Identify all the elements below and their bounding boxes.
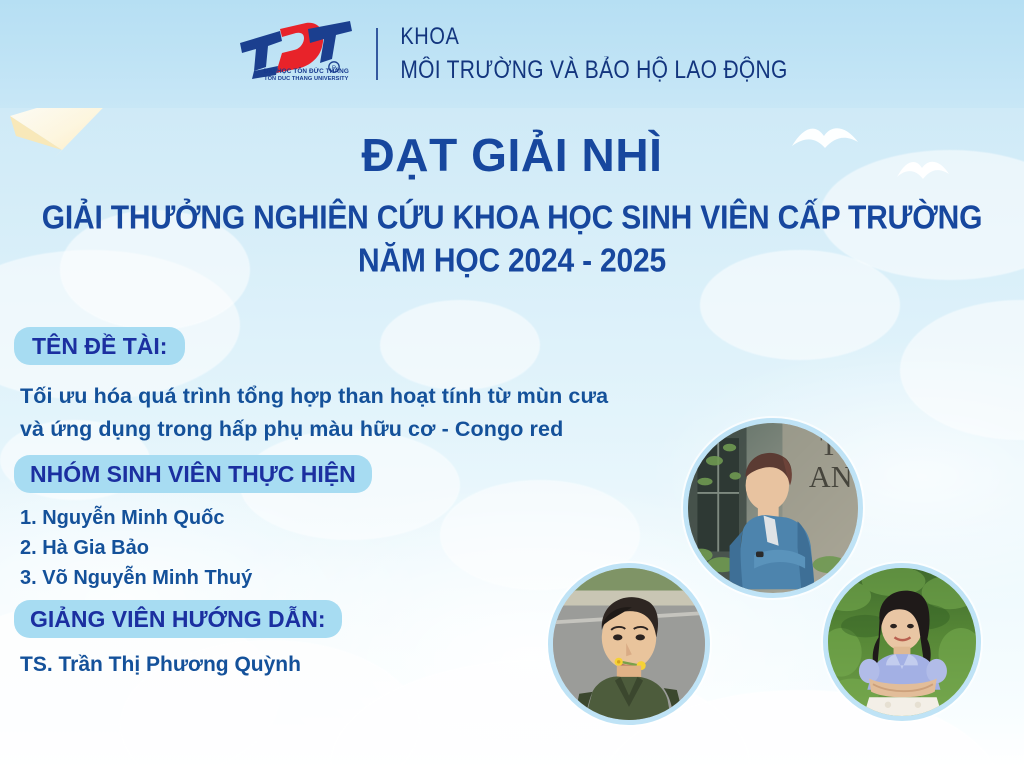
faculty-line-1: KHOA <box>400 22 787 51</box>
advisor-label-badge: GIẢNG VIÊN HƯỚNG DẪN: <box>14 600 342 638</box>
topic-text-line-1: Tối ưu hóa quá trình tổng hợp than hoạt … <box>20 384 608 409</box>
logo-subtitle-en: TON DUC THANG UNIVERSITY <box>258 76 354 82</box>
award-subtitle-2: NĂM HỌC 2024 - 2025 <box>0 243 1024 280</box>
svg-text:T: T <box>820 431 837 462</box>
poster-canvas: R ĐẠI HỌC TÔN ĐỨC THẮNG TON DUC THANG UN… <box>0 0 1024 768</box>
advisor-name: TS. Trần Thị Phương Quỳnh <box>20 653 301 677</box>
tdt-university-logo: R ĐẠI HỌC TÔN ĐỨC THẮNG TON DUC THANG UN… <box>236 21 354 87</box>
student-photo-2 <box>548 563 710 725</box>
faculty-title: KHOA MÔI TRƯỜNG VÀ BẢO HỘ LAO ĐỘNG <box>400 25 787 84</box>
faculty-line-2: MÔI TRƯỜNG VÀ BẢO HỘ LAO ĐỘNG <box>400 56 787 86</box>
header: R ĐẠI HỌC TÔN ĐỨC THẮNG TON DUC THANG UN… <box>0 0 1024 108</box>
award-subtitle-1: GIẢI THƯỞNG NGHIÊN CỨU KHOA HỌC SINH VIÊ… <box>0 200 1024 237</box>
student-group-label-badge: NHÓM SINH VIÊN THỰC HIỆN <box>14 455 372 493</box>
award-title: ĐẠT GIẢI NHÌ <box>0 128 1024 182</box>
student-photo-3 <box>823 563 981 721</box>
svg-text:AN: AN <box>809 460 853 494</box>
header-divider <box>376 28 378 80</box>
list-item: 1. Nguyễn Minh Quốc <box>20 507 224 530</box>
logo-subtitle-vi: ĐẠI HỌC TÔN ĐỨC THẮNG <box>258 68 354 75</box>
list-item: 2. Hà Gia Bảo <box>20 537 149 560</box>
list-item: 3. Võ Nguyễn Minh Thuý <box>20 567 252 590</box>
student-photo-1: T AN <box>683 418 863 598</box>
topic-label-badge: TÊN ĐỀ TÀI: <box>14 327 185 365</box>
topic-text-line-2: và ứng dụng trong hấp phụ màu hữu cơ - C… <box>20 417 563 442</box>
